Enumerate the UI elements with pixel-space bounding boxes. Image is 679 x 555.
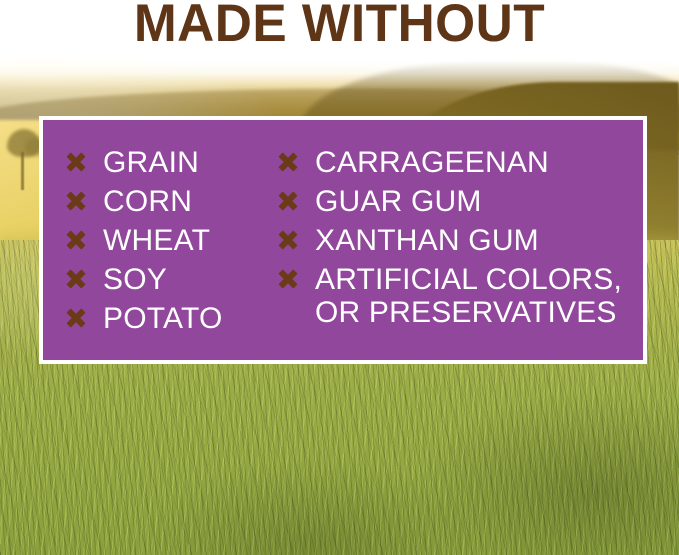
left-column: GRAIN CORN WHEAT [65,146,277,341]
lone-tree-trunk [21,152,24,190]
made-without-panel: GRAIN CORN WHEAT [39,116,647,364]
list-item: WHEAT [65,224,277,257]
list-item: XANTHAN GUM [277,224,623,257]
list-item: POTATO [65,302,277,335]
list-item-label: XANTHAN GUM [315,224,539,257]
list-item-label: CARRAGEENAN [315,146,549,179]
x-mark-icon [277,268,299,290]
x-mark-icon [277,190,299,212]
list-item-label: CORN [103,185,192,218]
list-item-label: ARTIFICIAL COLORS, OR PRESERVATIVES [315,263,622,329]
right-column: CARRAGEENAN GUAR GUM XANTHAN GUM [277,146,623,335]
x-mark-icon [277,229,299,251]
x-mark-icon [65,268,87,290]
page-title: MADE WITHOUT [10,0,669,52]
list-item: CARRAGEENAN [277,146,623,179]
x-mark-icon [277,151,299,173]
list-item-label: WHEAT [103,224,210,257]
list-item-label: GUAR GUM [315,185,482,218]
x-mark-icon [65,151,87,173]
list-item-label: POTATO [103,302,223,335]
list-item: GUAR GUM [277,185,623,218]
product-label-panel: MADE WITHOUT GRAIN CORN [0,0,679,555]
x-mark-icon [65,190,87,212]
list-item-label: GRAIN [103,146,199,179]
list-item: GRAIN [65,146,277,179]
x-mark-icon [65,229,87,251]
list-item: CORN [65,185,277,218]
x-mark-icon [65,307,87,329]
list-item: SOY [65,263,277,296]
list-item: ARTIFICIAL COLORS, OR PRESERVATIVES [277,263,623,329]
list-item-label: SOY [103,263,167,296]
